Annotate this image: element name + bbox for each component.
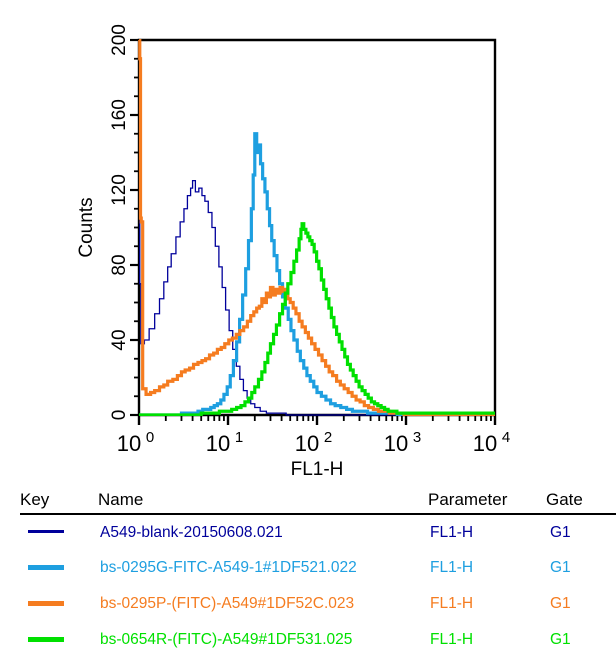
legend-row[interactable]: bs-0295G-FITC-A549-1#1DF521.022FL1-HG1 [20, 550, 616, 586]
y-tick-label: 120 [109, 174, 130, 206]
legend-header-gate: Gate [546, 490, 616, 513]
legend-header-parameter: Parameter [428, 490, 546, 513]
legend-body: A549-blank-20150608.021FL1-HG1bs-0295G-F… [20, 514, 616, 658]
histogram-svg: 04080120160200100101102103104FL1-HCounts [0, 0, 616, 490]
x-tick-label: 100 [117, 429, 154, 456]
legend-gate: G1 [546, 622, 616, 658]
legend-header-name: Name [98, 490, 428, 513]
x-tick-exponent: 3 [413, 429, 421, 446]
legend-parameter: FL1-H [428, 514, 546, 550]
series-trace-0 [139, 40, 495, 415]
x-tick-label: 102 [295, 429, 332, 456]
x-tick-base: 10 [295, 431, 319, 456]
legend-header-row: Key Name Parameter Gate [20, 490, 616, 513]
series-group [139, 40, 495, 415]
legend-panel: Key Name Parameter Gate A549-blank-20150… [0, 490, 616, 664]
legend-color-swatch [28, 601, 64, 606]
x-tick-base: 10 [384, 431, 408, 456]
legend-sample-name: A549-blank-20150608.021 [98, 514, 428, 550]
legend-gate: G1 [546, 514, 616, 550]
legend-sample-name: bs-0654R-(FITC)-A549#1DF531.025 [98, 622, 428, 658]
flow-cytometry-histogram: 04080120160200100101102103104FL1-HCounts [0, 0, 616, 490]
legend-key-cell [20, 586, 98, 622]
legend-key-cell [20, 622, 98, 658]
x-axis-title: FL1-H [291, 459, 344, 480]
y-tick-label: 0 [109, 410, 130, 421]
y-tick-label: 40 [109, 329, 130, 350]
x-tick-exponent: 2 [324, 429, 332, 446]
legend-row[interactable]: A549-blank-20150608.021FL1-HG1 [20, 514, 616, 550]
x-tick-label: 104 [473, 429, 510, 456]
legend-color-swatch [28, 565, 64, 570]
y-tick-label: 160 [109, 99, 130, 131]
legend-sample-name: bs-0295P-(FITC)-A549#1DF52C.023 [98, 586, 428, 622]
y-tick-label: 80 [109, 254, 130, 275]
series-trace-2 [139, 40, 495, 415]
legend-row[interactable]: bs-0295P-(FITC)-A549#1DF52C.023FL1-HG1 [20, 586, 616, 622]
x-tick-base: 10 [473, 431, 497, 456]
legend-key-cell [20, 514, 98, 550]
x-tick-base: 10 [117, 431, 141, 456]
legend-parameter: FL1-H [428, 586, 546, 622]
series-trace-1 [139, 134, 495, 415]
legend-row[interactable]: bs-0654R-(FITC)-A549#1DF531.025FL1-HG1 [20, 622, 616, 658]
y-tick-label: 200 [109, 24, 130, 56]
legend-header-key: Key [20, 490, 98, 513]
legend-parameter: FL1-H [428, 550, 546, 586]
legend-table: Key Name Parameter Gate A549-blank-20150… [20, 490, 616, 658]
x-tick-base: 10 [206, 431, 230, 456]
legend-sample-name: bs-0295G-FITC-A549-1#1DF521.022 [98, 550, 428, 586]
y-axis-title: Counts [76, 197, 97, 257]
legend-key-cell [20, 550, 98, 586]
legend-color-swatch [28, 530, 64, 533]
legend-gate: G1 [546, 550, 616, 586]
plot-frame [139, 40, 495, 415]
x-tick-exponent: 0 [146, 429, 154, 446]
x-tick-label: 103 [384, 429, 421, 456]
x-tick-exponent: 1 [235, 429, 243, 446]
legend-gate: G1 [546, 586, 616, 622]
x-tick-label: 101 [206, 429, 243, 456]
x-tick-exponent: 4 [502, 429, 510, 446]
legend-parameter: FL1-H [428, 622, 546, 658]
legend-color-swatch [28, 637, 64, 642]
